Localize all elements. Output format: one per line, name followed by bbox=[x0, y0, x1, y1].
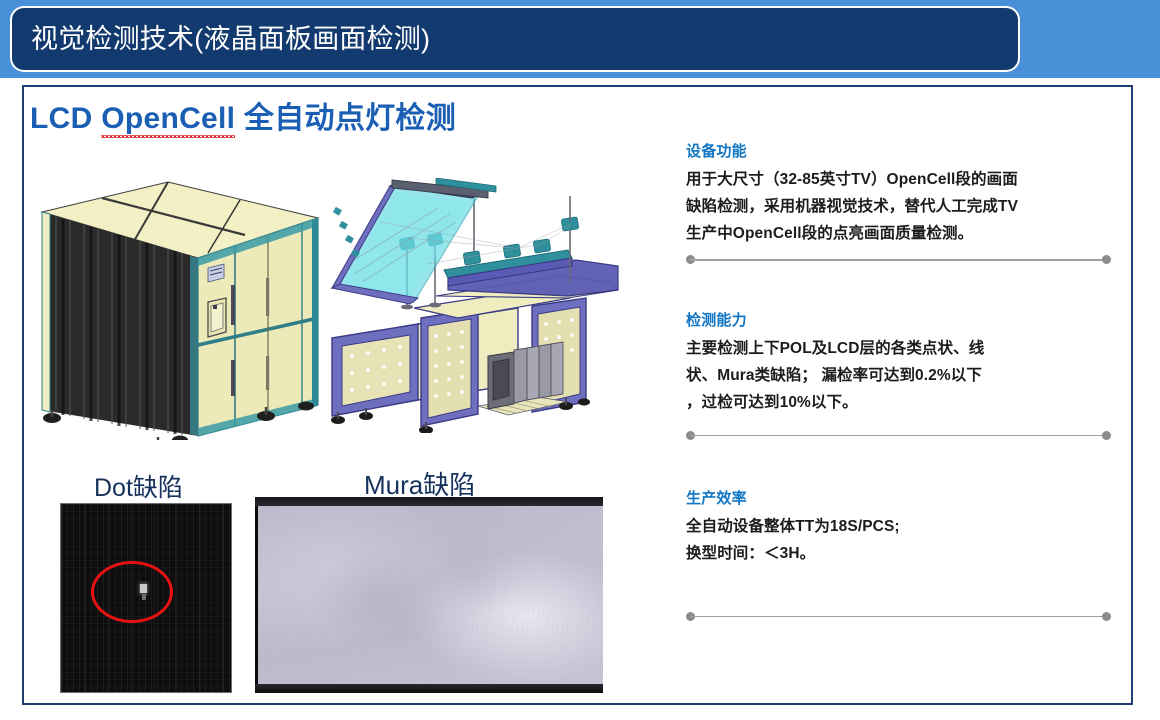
divider-line bbox=[690, 616, 1107, 618]
divider-dot-right bbox=[1102, 255, 1111, 264]
dot-defect-sample bbox=[60, 503, 232, 693]
section-body: 用于大尺寸（32-85英寸TV）OpenCell段的画面 缺陷检测，采用机器视觉… bbox=[686, 167, 1111, 247]
divider-dot-right bbox=[1102, 612, 1111, 621]
divider-line bbox=[690, 435, 1107, 437]
mura-defect-sample bbox=[255, 497, 603, 693]
page-title: 视觉检测技术(液晶面板画面检测) bbox=[12, 26, 430, 53]
slide-heading-spellchecked-term: OpenCell bbox=[101, 102, 235, 136]
slide-heading-prefix: LCD bbox=[30, 102, 101, 135]
divider-dot-right bbox=[1102, 431, 1111, 440]
body-line: ，过检可达到10%以下。 bbox=[686, 390, 1111, 417]
mura-panel-surface bbox=[258, 506, 603, 684]
body-line: 用于大尺寸（32-85英寸TV）OpenCell段的画面 bbox=[686, 167, 1111, 194]
body-line: 状、Mura类缺陷； 漏检率可达到0.2%以下 bbox=[686, 363, 1111, 390]
info-column: 设备功能 用于大尺寸（32-85英寸TV）OpenCell段的画面 缺陷检测，采… bbox=[686, 140, 1111, 622]
section-divider bbox=[686, 431, 1111, 441]
info-section-production-efficiency: 生产效率 全自动设备整体TT为18S/PCS; 换型时间：＜3H。 bbox=[686, 487, 1111, 568]
caption-dot-defect: Dot缺陷 bbox=[94, 468, 183, 504]
section-heading: 检测能力 bbox=[686, 309, 1111, 330]
divider-line bbox=[690, 259, 1107, 261]
mura-luminance-cloud bbox=[258, 506, 603, 684]
section-divider bbox=[686, 612, 1111, 622]
section-divider bbox=[686, 255, 1111, 265]
info-section-detection-capability: 检测能力 主要检测上下POL及LCD层的各类点状、线 状、Mura类缺陷； 漏检… bbox=[686, 309, 1111, 416]
panel-bezel-bottom bbox=[255, 684, 603, 693]
enclosure-cabinet-render bbox=[30, 160, 325, 440]
red-ellipse-annotation bbox=[91, 561, 173, 623]
section-heading: 设备功能 bbox=[686, 140, 1111, 161]
section-body: 全自动设备整体TT为18S/PCS; 换型时间：＜3H。 bbox=[686, 514, 1111, 568]
info-section-equipment-function: 设备功能 用于大尺寸（32-85英寸TV）OpenCell段的画面 缺陷检测，采… bbox=[686, 140, 1111, 247]
body-line: 生产中OpenCell段的点亮画面质量检测。 bbox=[686, 221, 1111, 248]
section-heading: 生产效率 bbox=[686, 487, 1111, 508]
body-line: 主要检测上下POL及LCD层的各类点状、线 bbox=[686, 336, 1111, 363]
section-body: 主要检测上下POL及LCD层的各类点状、线 状、Mura类缺陷； 漏检率可达到0… bbox=[686, 336, 1111, 416]
inspection-station-render bbox=[318, 178, 623, 433]
body-line: 全自动设备整体TT为18S/PCS; bbox=[686, 514, 1111, 541]
header-title-box: 视觉检测技术(液晶面板画面检测) bbox=[12, 8, 1018, 70]
panel-bezel-top bbox=[255, 497, 603, 506]
body-line: 换型时间：＜3H。 bbox=[686, 541, 1111, 568]
body-line: 缺陷检测，采用机器视觉技术，替代人工完成TV bbox=[686, 194, 1111, 221]
slide-heading: LCD OpenCell 全自动点灯检测 bbox=[30, 93, 456, 137]
slide-heading-suffix: 全自动点灯检测 bbox=[235, 102, 456, 135]
